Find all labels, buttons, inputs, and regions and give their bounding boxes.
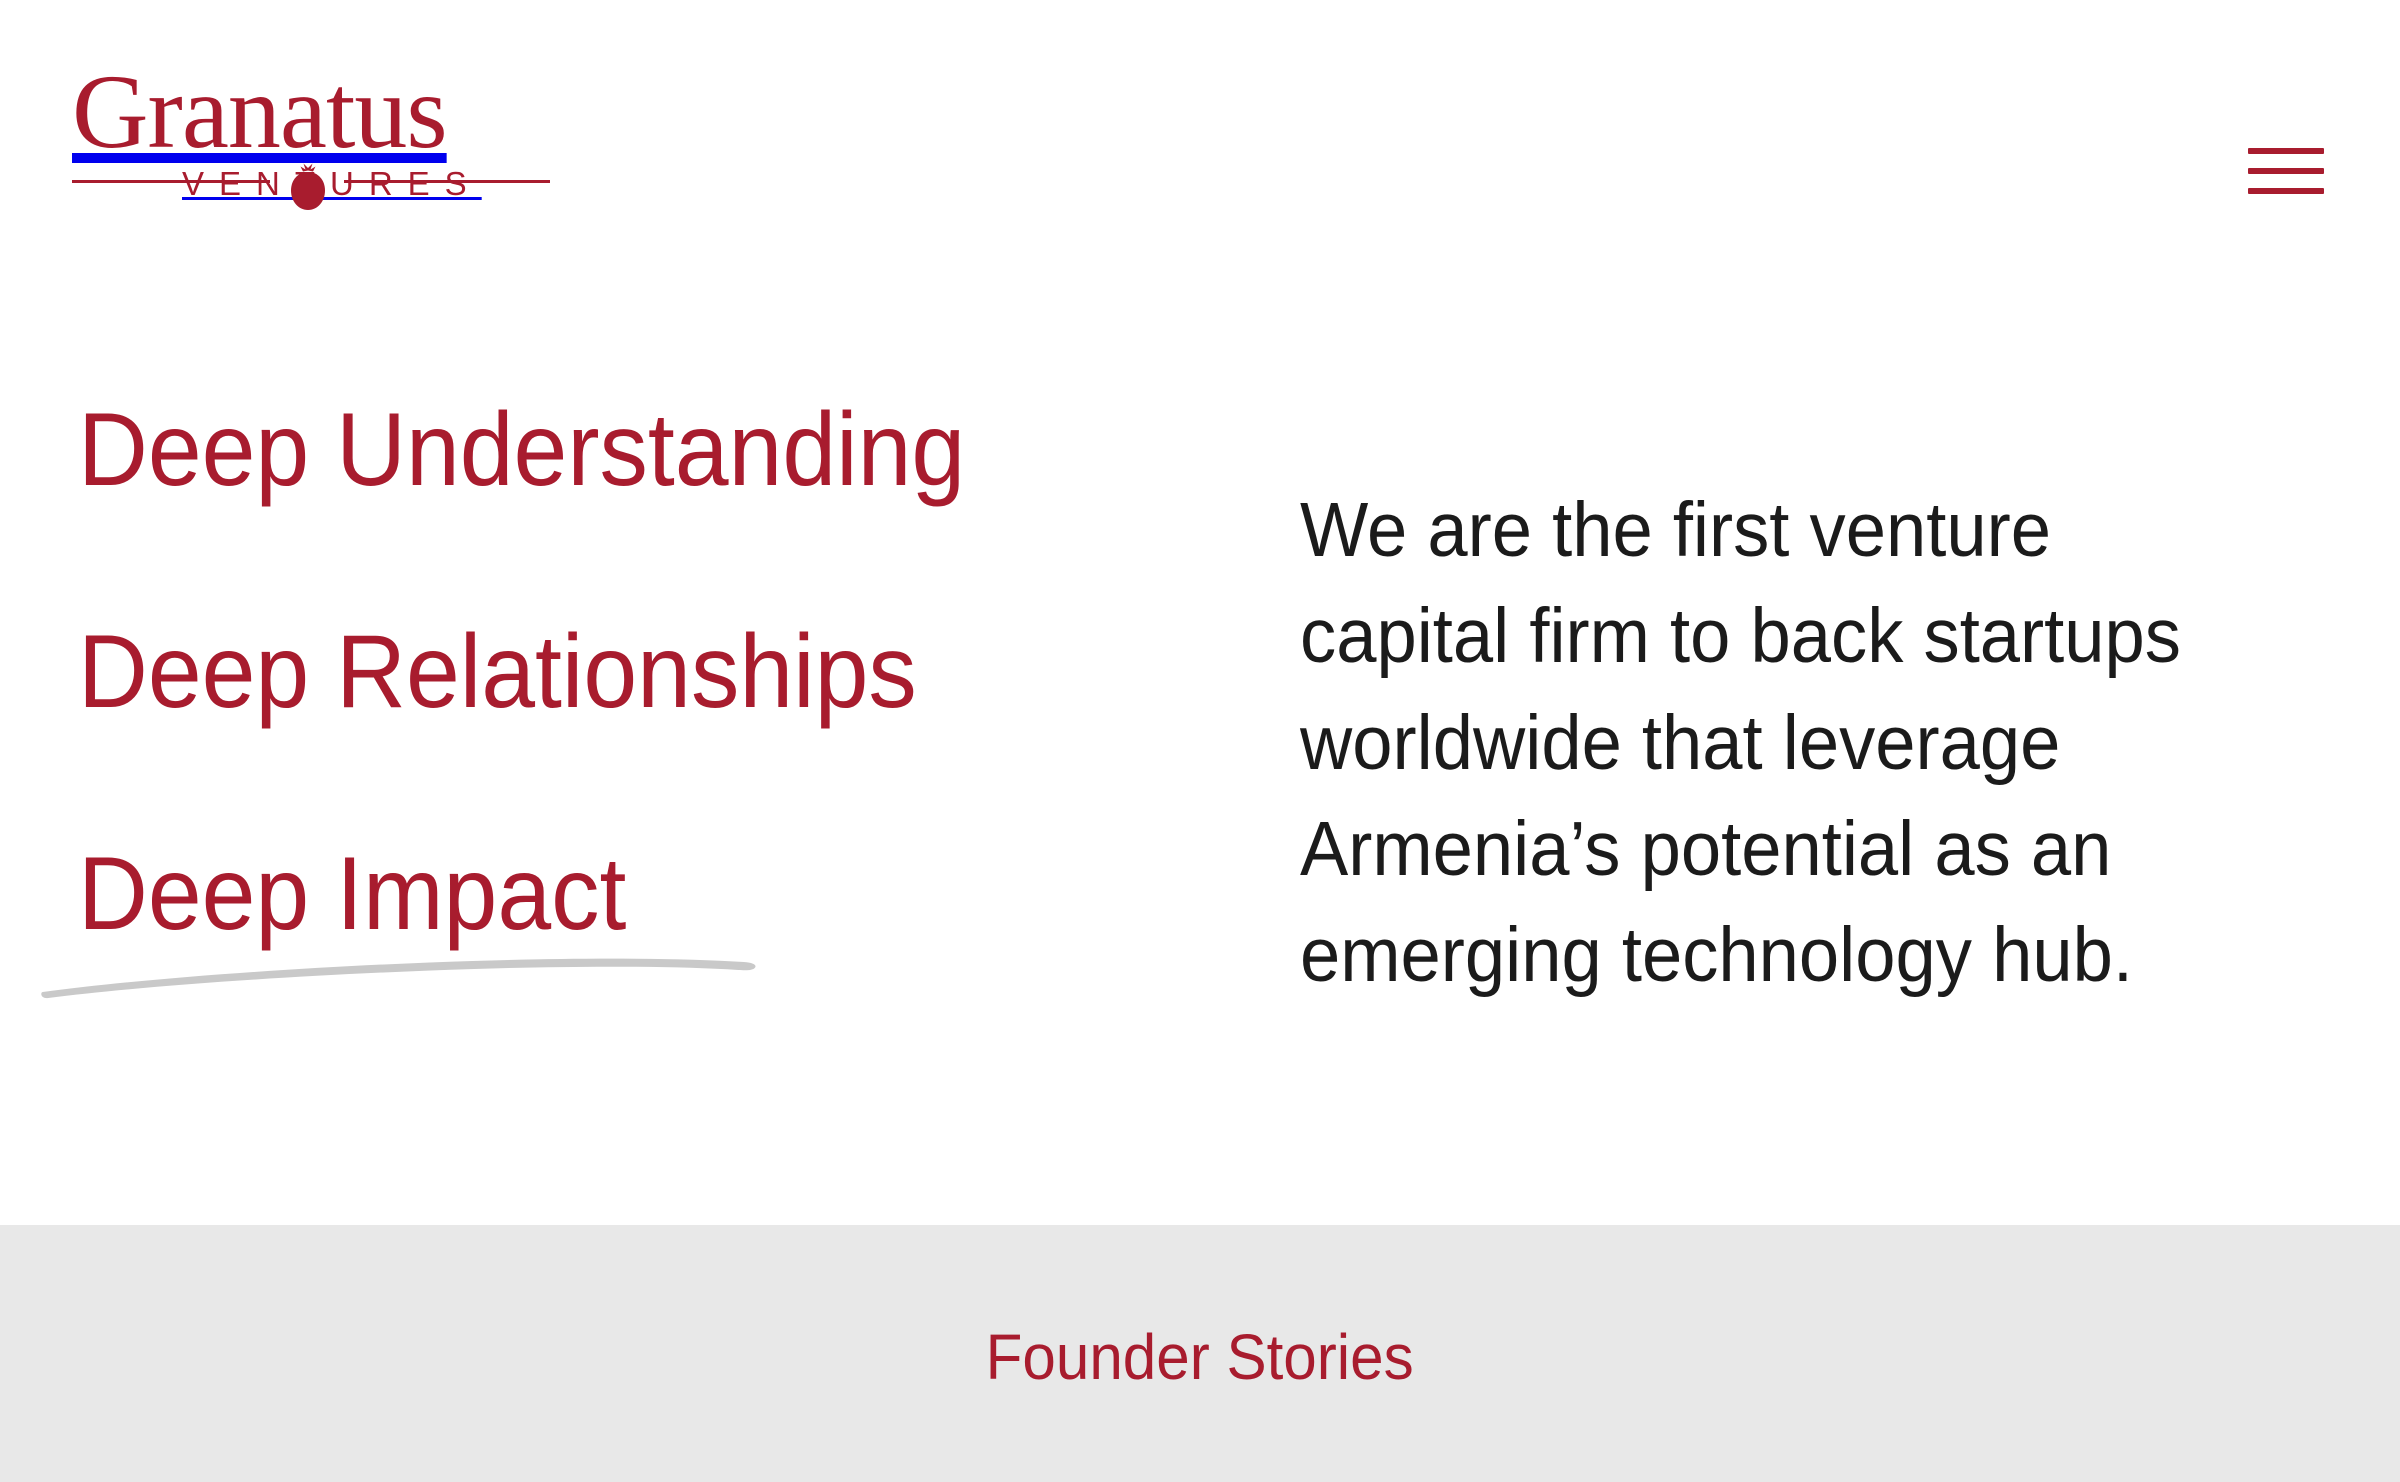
hero-section: Deep Understanding Deep Relationships De… [0,370,2400,1225]
hero-heading-list: Deep Understanding Deep Relationships De… [78,398,1228,946]
hero-heading-deep-relationships: Deep Relationships [78,620,1148,724]
founder-stories-link[interactable]: Founder Stories [986,1325,1414,1389]
hamburger-bar-1 [2248,148,2324,154]
brand-wordmark: Granatus [72,62,562,163]
site-header: Granatus VENTURES [0,0,2400,370]
brand-rule-left [72,180,270,183]
founder-stories-band: Founder Stories [0,1225,2400,1482]
pomegranate-icon [284,163,332,213]
hero-heading-deep-impact: Deep Impact [78,842,1148,946]
brand-logo[interactable]: Granatus VENTURES [72,62,562,203]
hero-heading-deep-impact-label: Deep Impact [78,836,626,952]
hamburger-bar-2 [2248,168,2324,174]
brand-rule-right [344,180,550,183]
hamburger-bar-3 [2248,188,2324,194]
hero-heading-deep-understanding: Deep Understanding [78,398,1148,502]
hero-body-paragraph: We are the first venture capital firm to… [1300,477,2278,1008]
hamburger-menu-icon[interactable] [2240,132,2332,194]
